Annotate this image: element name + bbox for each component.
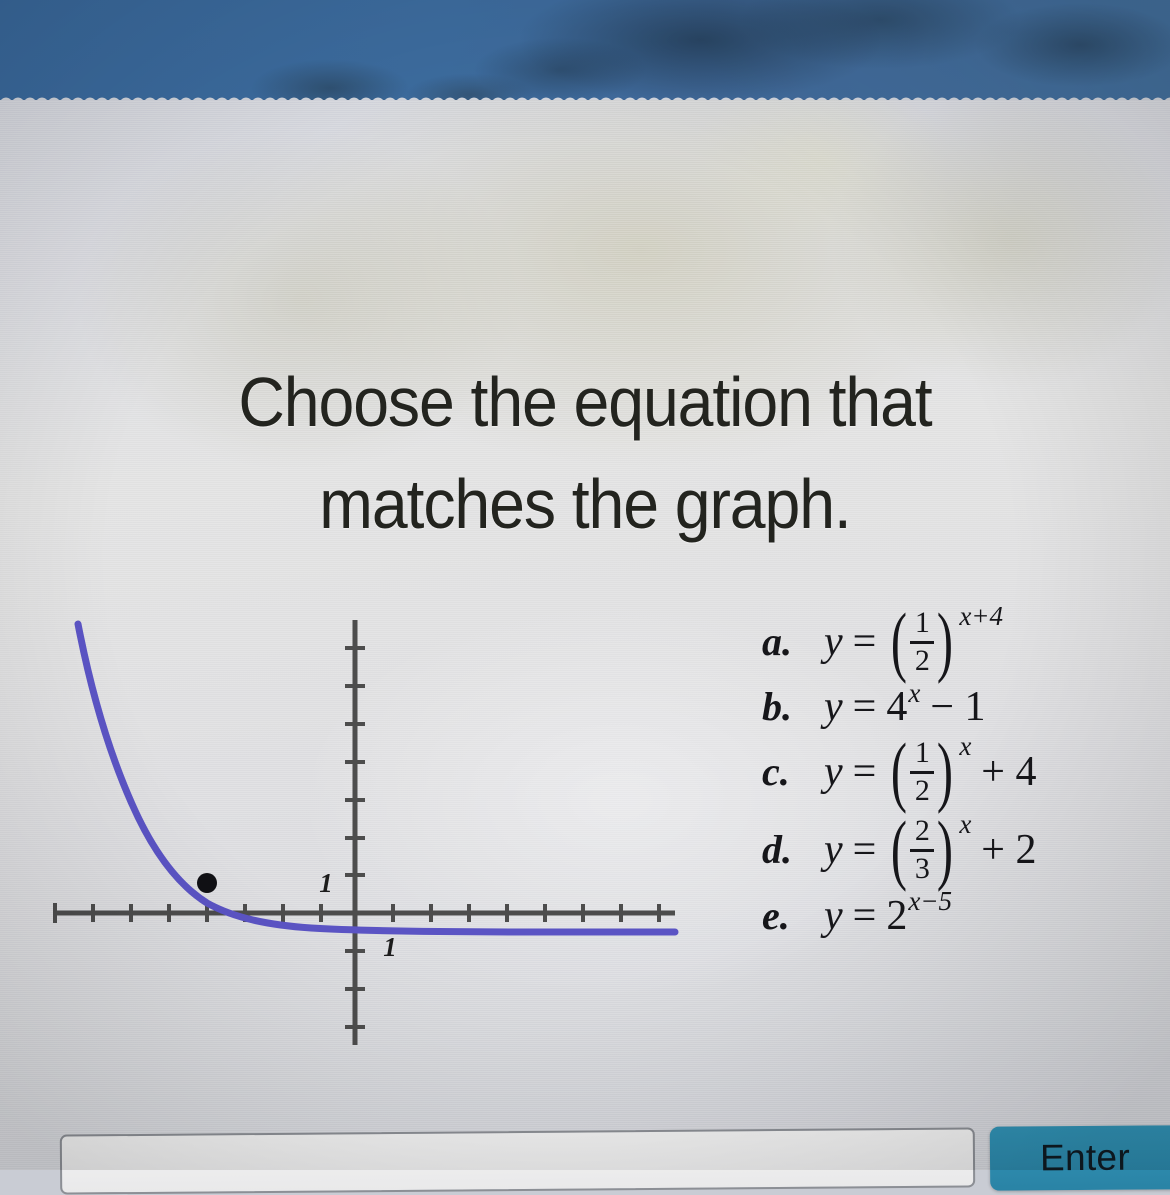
fraction-numerator: 2 [913,816,932,847]
fraction-one-half: 1 2 [910,608,934,676]
answer-equation-b: y = 4 x − 1 [824,686,986,728]
enter-button-label: Enter [1040,1137,1130,1180]
answer-letter-d: d. [762,830,824,870]
variable-y: y [824,621,843,663]
base-b: 4 [886,686,907,728]
y-axis-tick-label: 1 [319,868,333,898]
answer-equation-e: y = 2 x−5 [824,895,952,937]
suffix-b: − 1 [930,686,985,728]
enter-button[interactable]: Enter [990,1125,1170,1190]
answer-equation-c: y = ( 1 2 ) x + 4 [824,738,1036,806]
exponent-a: x+4 [959,603,1003,630]
variable-y: y [824,895,843,937]
fraction-two-thirds: 2 3 [910,816,934,884]
answer-letter-e: e. [762,896,824,936]
coordinate-plane: 1 1 [28,600,728,1070]
photo-background-sky-trees [0,0,1170,104]
answer-choice-list: a. y = ( 1 2 ) x+4 b. y = 4 x − 1 [762,608,1170,947]
answer-choice-a[interactable]: a. y = ( 1 2 ) x+4 [762,608,1170,676]
exponent-e: x−5 [908,888,952,915]
equals-sign: = [853,751,877,793]
fraction-numerator: 1 [913,608,932,639]
exponential-curve [78,624,675,932]
graph-figure: 1 1 [28,600,728,1070]
fraction-denominator: 2 [913,646,932,677]
equals-sign: = [853,621,877,663]
fraction-group: ( 1 2 ) [886,738,958,806]
base-e: 2 [886,895,907,937]
fraction-denominator: 2 [913,776,932,807]
fraction-denominator: 3 [913,854,932,885]
page-title: Choose the equation that matches the gra… [125,352,1045,555]
exponent-b: x [908,680,920,707]
answer-letter-c: c. [762,752,824,792]
equals-sign: = [853,895,877,937]
variable-y: y [824,829,843,871]
plotted-point [197,873,217,893]
answer-choice-b[interactable]: b. y = 4 x − 1 [762,686,1170,728]
answer-letter-a: a. [762,622,824,662]
answer-choice-e[interactable]: e. y = 2 x−5 [762,895,1170,937]
variable-y: y [824,686,843,728]
suffix-d: + 2 [981,829,1036,871]
fraction-group: ( 2 3 ) [886,816,958,884]
fraction-group: ( 1 2 ) [886,608,958,676]
equals-sign: = [853,829,877,871]
answer-equation-a: y = ( 1 2 ) x+4 [824,608,1003,676]
answer-choice-c[interactable]: c. y = ( 1 2 ) x + 4 [762,738,1170,806]
suffix-c: + 4 [981,751,1036,793]
fraction-one-half: 1 2 [910,738,934,806]
answer-letter-b: b. [762,687,824,727]
equals-sign: = [853,686,877,728]
fraction-numerator: 1 [913,738,932,769]
x-axis-tick-label: 1 [383,932,397,962]
answer-choice-d[interactable]: d. y = ( 2 3 ) x + 2 [762,816,1170,884]
exponent-c: x [959,733,971,760]
answer-input[interactable] [60,1127,975,1194]
variable-y: y [824,751,843,793]
exponent-d: x [959,811,971,838]
answer-equation-d: y = ( 2 3 ) x + 2 [824,816,1036,884]
